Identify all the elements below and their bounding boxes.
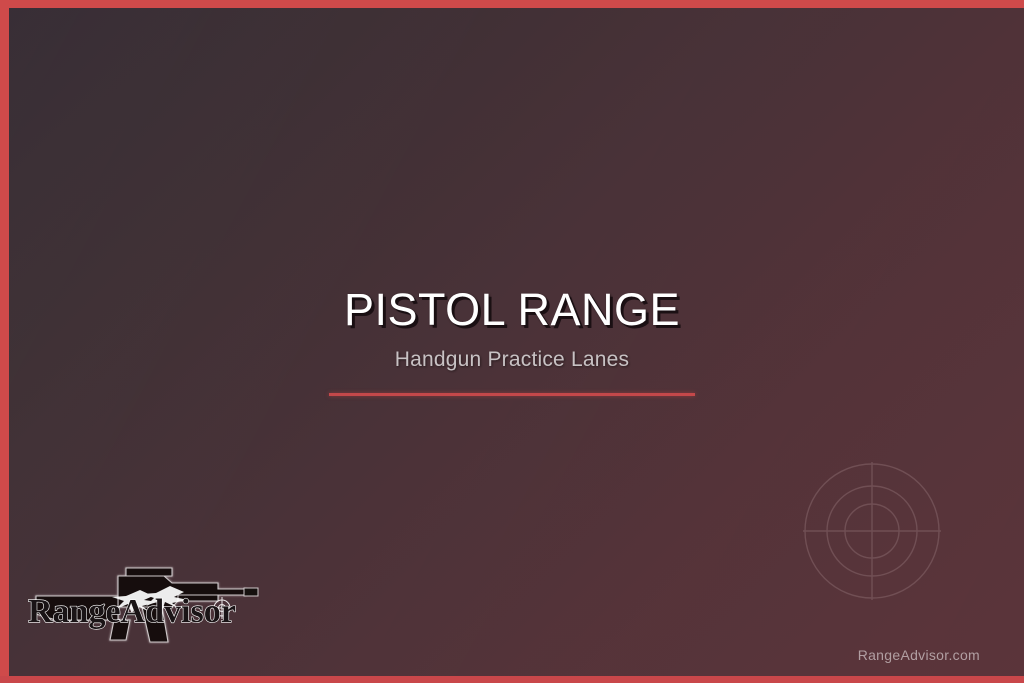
title-divider [329, 393, 695, 396]
brand-logo: RangeAdvisor [22, 556, 274, 656]
page-title: PISTOL RANGE [0, 286, 1024, 333]
page-subtitle: Handgun Practice Lanes [0, 348, 1024, 372]
title-block: PISTOL RANGE Handgun Practice Lanes [0, 286, 1024, 396]
brand-logo-text: RangeAdvisor [28, 593, 236, 630]
frame-border-left [0, 0, 9, 683]
crosshair-target-icon [803, 462, 941, 600]
frame-border-top [0, 0, 1024, 8]
presentation-slide: PISTOL RANGE Handgun Practice Lanes [0, 0, 1024, 683]
footer-url: RangeAdvisor.com [858, 647, 980, 663]
frame-border-bottom [0, 676, 1024, 683]
